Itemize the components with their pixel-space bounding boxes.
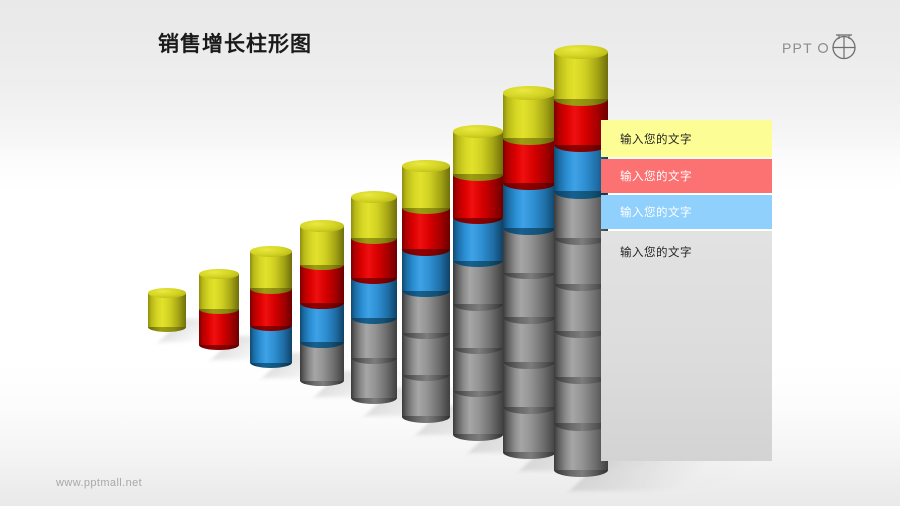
slide-canvas: 销售增长柱形图 PPT 输入您的文字 输入您的文字 输入您的文字 输入您的文字 … bbox=[0, 0, 900, 506]
legend-band-red[interactable]: 输入您的文字 bbox=[601, 159, 772, 193]
legend-band-blue[interactable]: 输入您的文字 bbox=[601, 195, 772, 229]
footer-url: www.pptmall.net bbox=[56, 477, 142, 489]
chart-disc bbox=[554, 45, 608, 106]
legend-band-grey[interactable]: 输入您的文字 bbox=[601, 231, 772, 461]
legend-label-red: 输入您的文字 bbox=[601, 168, 692, 184]
legend-label-blue: 输入您的文字 bbox=[601, 204, 692, 220]
legend-label-grey: 输入您的文字 bbox=[601, 244, 692, 260]
legend-band-yellow[interactable]: 输入您的文字 bbox=[601, 120, 772, 157]
legend-label-yellow: 输入您的文字 bbox=[601, 131, 692, 147]
